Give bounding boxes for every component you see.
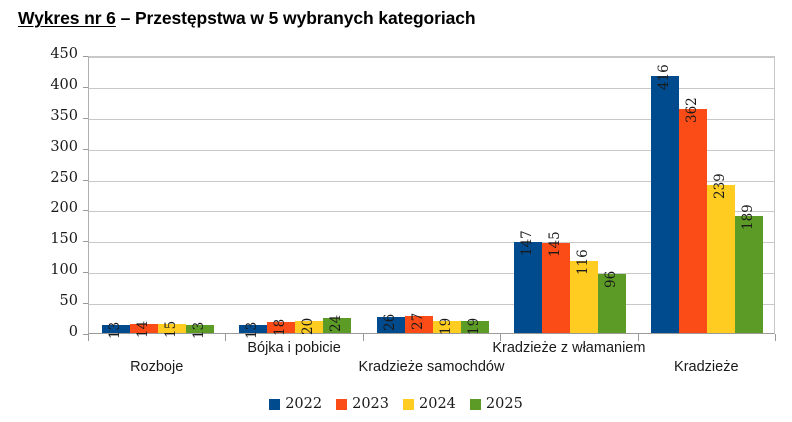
x-axis-category-label: Bójka i pobicie xyxy=(247,340,341,356)
x-axis-category-label: Kradzieże xyxy=(674,359,738,375)
y-axis-tick-label: 300 xyxy=(36,139,78,155)
bar-value-label: 19 xyxy=(466,318,482,335)
x-axis-category-label: Kradzieże samochdów xyxy=(359,359,505,375)
y-axis-tick-label: 350 xyxy=(36,108,78,124)
bar-value-label: 416 xyxy=(656,64,672,90)
y-axis-tick-label: 200 xyxy=(36,200,78,216)
bar-value-label: 19 xyxy=(438,318,454,335)
legend-label: 2024 xyxy=(419,396,456,412)
legend-item[interactable]: 2023 xyxy=(336,396,389,412)
legend-label: 2023 xyxy=(352,396,389,412)
y-axis-tick-label: 400 xyxy=(36,77,78,93)
y-axis-tick-label: 150 xyxy=(36,231,78,247)
x-axis-tick-mark xyxy=(775,334,776,341)
legend-swatch-icon xyxy=(269,399,280,410)
bar-value-label: 116 xyxy=(575,250,591,276)
bar-value-label: 18 xyxy=(272,319,288,336)
bar-value-label: 13 xyxy=(191,322,207,339)
bar-value-label: 13 xyxy=(244,322,260,339)
bar[interactable] xyxy=(735,216,763,333)
legend-item[interactable]: 2022 xyxy=(269,396,322,412)
y-axis-tick-label: 0 xyxy=(36,324,78,340)
bar-value-label: 14 xyxy=(135,321,151,338)
legend-item[interactable]: 2024 xyxy=(403,396,456,412)
x-axis-tick-mark xyxy=(363,334,364,341)
legend-swatch-icon xyxy=(403,399,414,410)
bar[interactable] xyxy=(679,109,707,333)
legend-swatch-icon xyxy=(470,399,481,410)
x-axis-tick-mark xyxy=(225,334,226,341)
bar[interactable] xyxy=(707,185,735,333)
x-axis-category-label: Rozboje xyxy=(130,359,183,375)
bar-value-label: 147 xyxy=(519,230,535,256)
bar-value-label: 96 xyxy=(603,271,619,288)
bar[interactable] xyxy=(651,76,679,333)
bar-value-label: 20 xyxy=(300,317,316,334)
x-axis-category-label: Kradzieże z włamaniem xyxy=(492,340,645,356)
bar-value-label: 362 xyxy=(684,98,700,124)
chart-title-rest: – Przestępstwa w 5 wybranych kategoriach xyxy=(116,8,476,28)
legend-swatch-icon xyxy=(336,399,347,410)
bar-value-label: 26 xyxy=(382,314,398,331)
bar-value-label: 13 xyxy=(107,322,123,339)
plot-area: 1314151313182024262719191471451169641636… xyxy=(88,56,775,334)
chart-number-label: Wykres nr 6 xyxy=(18,8,116,28)
y-axis-tick-label: 250 xyxy=(36,170,78,186)
y-axis-tick-label: 100 xyxy=(36,262,78,278)
legend-label: 2022 xyxy=(285,396,322,412)
legend: 2022202320242025 xyxy=(0,396,792,412)
legend-item[interactable]: 2025 xyxy=(470,396,523,412)
y-axis-tick-label: 450 xyxy=(36,46,78,62)
bar-value-label: 239 xyxy=(712,174,728,200)
page-title: Wykres nr 6 – Przestępstwa w 5 wybranych… xyxy=(18,8,475,29)
bar-value-label: 145 xyxy=(547,232,563,258)
legend-label: 2025 xyxy=(486,396,523,412)
y-axis-tick-label: 50 xyxy=(36,293,78,309)
x-axis-tick-mark xyxy=(88,334,89,341)
gridline xyxy=(89,57,774,58)
bar-value-label: 15 xyxy=(163,321,179,338)
bar-value-label: 24 xyxy=(328,315,344,332)
bar-value-label: 27 xyxy=(410,313,426,330)
bar-value-label: 189 xyxy=(740,204,756,230)
